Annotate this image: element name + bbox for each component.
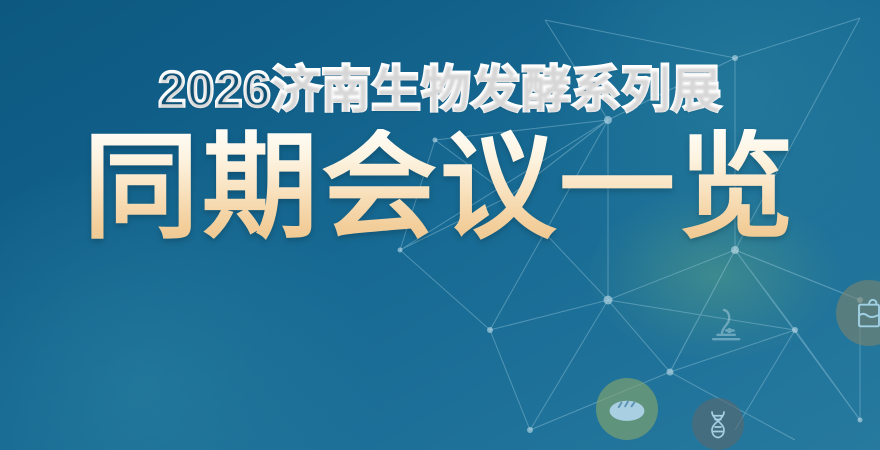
- dna-helix-icon: [692, 398, 744, 450]
- conference-banner: 2026济南生物发酵系列展 同期会议一览: [0, 0, 880, 450]
- headline-block: 2026济南生物发酵系列展 同期会议一览: [0, 66, 880, 245]
- event-name-eyebrow: 2026济南生物发酵系列展: [0, 66, 880, 115]
- page-title: 同期会议一览: [0, 129, 880, 245]
- microscope-icon: [696, 296, 752, 352]
- bread-icon: [596, 378, 658, 440]
- fermentation-jar-icon: [836, 280, 880, 346]
